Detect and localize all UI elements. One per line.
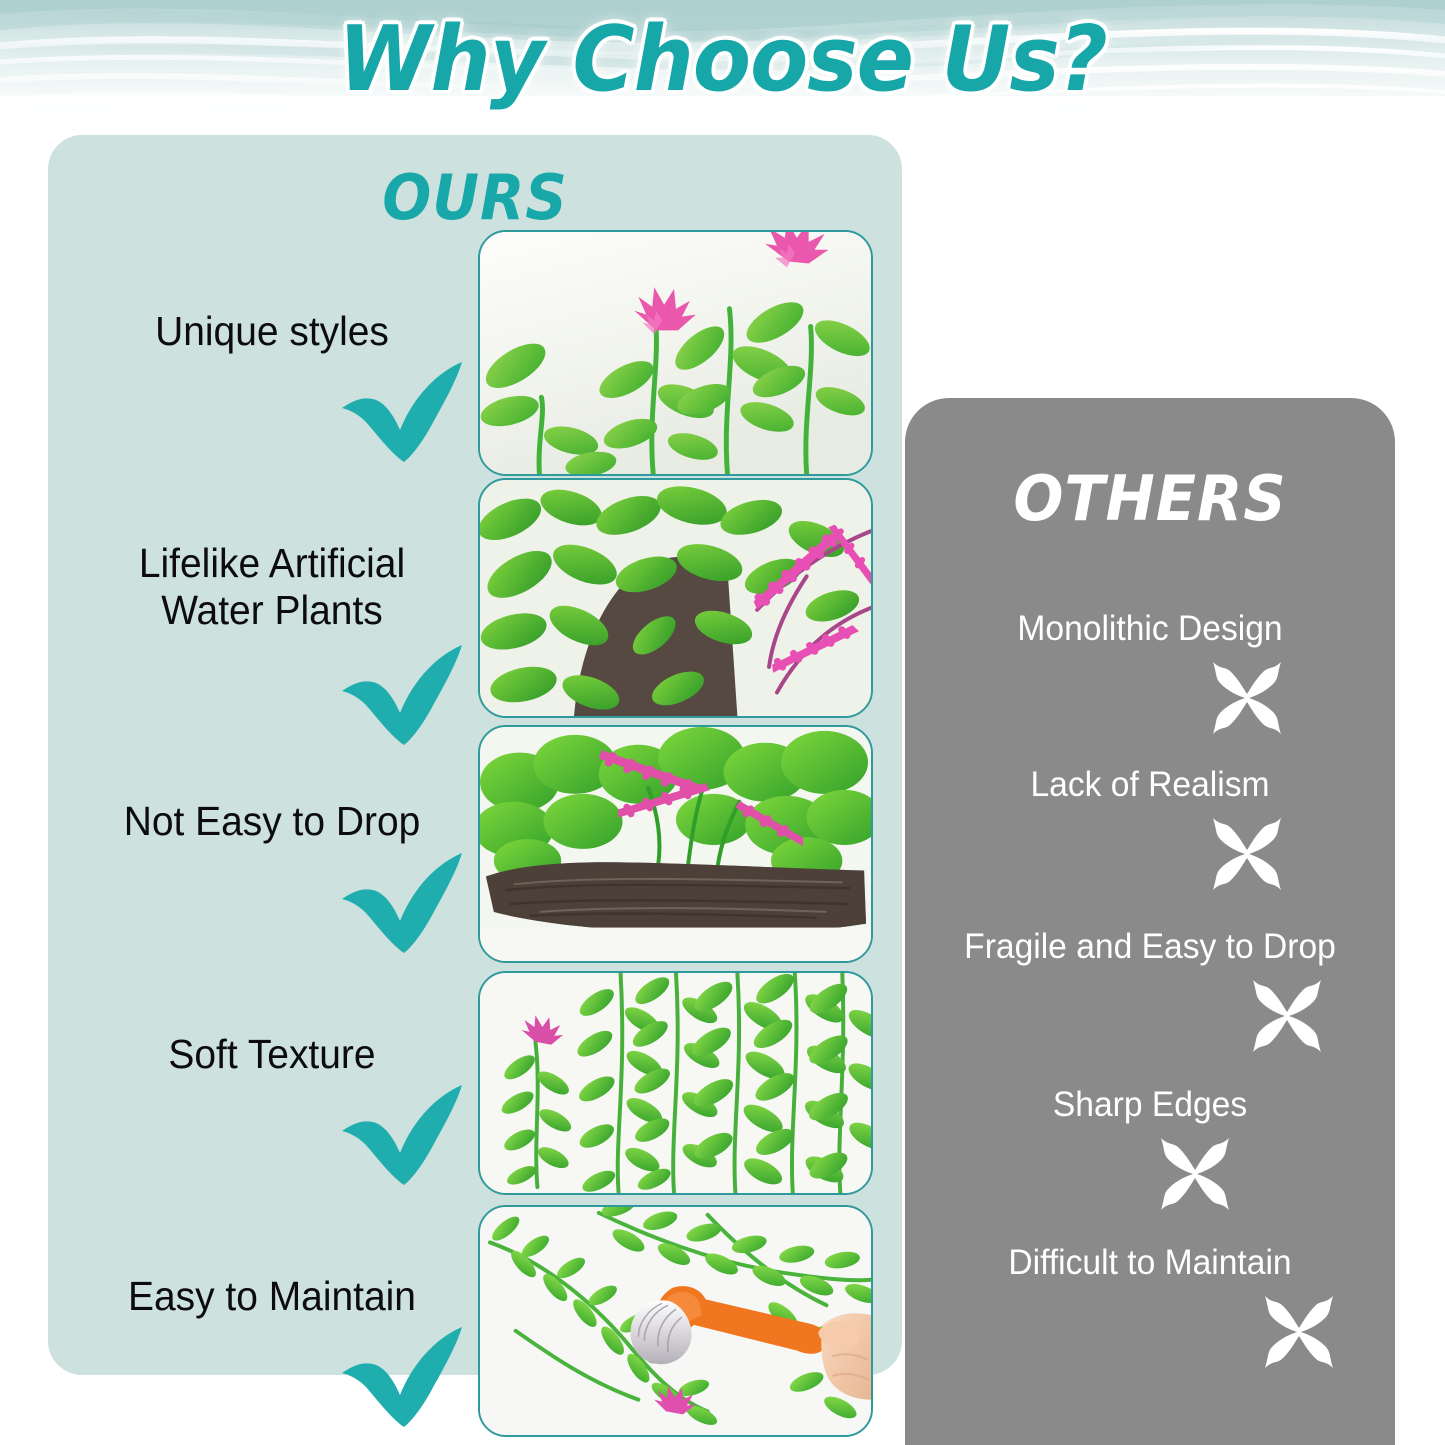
others-item-label: Lack of Realism	[915, 764, 1385, 806]
ours-photo-1	[478, 230, 873, 476]
tall-green-plant-stems-photo-icon	[480, 973, 871, 1193]
cross-icon	[1257, 1290, 1341, 1374]
ours-item-check	[338, 1083, 468, 1187]
ours-item-check	[338, 360, 468, 464]
check-icon	[338, 1325, 468, 1429]
check-icon	[338, 360, 468, 464]
check-icon	[338, 851, 468, 955]
others-item-label: Difficult to Maintain	[915, 1242, 1385, 1284]
ours-item-check	[338, 1325, 468, 1429]
ours-item-label: Easy to Maintain	[73, 1273, 472, 1320]
ours-item-label: Soft Texture	[73, 1031, 472, 1078]
others-item-label: Sharp Edges	[915, 1084, 1385, 1126]
ours-item-check	[338, 851, 468, 955]
driftwood-log-base-plants-photo-icon	[480, 727, 871, 961]
page-title: Why Choose Us?	[43, 8, 1401, 112]
others-item-cross	[1257, 1290, 1341, 1374]
others-item-cross	[1205, 812, 1289, 896]
others-item-cross	[1205, 656, 1289, 740]
ours-photo-5	[478, 1205, 873, 1437]
others-panel: OTHERS Monolithic Design Lack of Realism…	[905, 398, 1395, 1445]
others-item-label: Fragile and Easy to Drop	[915, 926, 1385, 968]
aquarium-plants-pink-flowers-photo-icon	[480, 232, 871, 474]
others-item-cross	[1153, 1132, 1237, 1216]
check-icon	[338, 643, 468, 747]
ours-item-label: Not Easy to Drop	[73, 798, 472, 845]
check-icon	[338, 1083, 468, 1187]
others-item-cross	[1245, 974, 1329, 1058]
ours-item-label: Lifelike Artificial Water Plants	[73, 540, 472, 634]
others-item-label: Monolithic Design	[915, 608, 1385, 650]
cross-icon	[1245, 974, 1329, 1058]
cross-icon	[1205, 656, 1289, 740]
ours-panel: OURS	[48, 135, 902, 1375]
ours-heading: OURS	[78, 163, 872, 233]
ours-photo-4	[478, 971, 873, 1195]
ours-photo-2	[478, 478, 873, 718]
others-heading: OTHERS	[917, 464, 1383, 534]
ours-photo-3	[478, 725, 873, 963]
cross-icon	[1205, 812, 1289, 896]
cross-icon	[1153, 1132, 1237, 1216]
ours-item-label: Unique styles	[73, 308, 472, 355]
ours-item-check	[338, 643, 468, 747]
hand-brush-cleaning-plant-photo-icon	[480, 1207, 871, 1435]
dense-green-leaves-pink-fern-photo-icon	[480, 480, 871, 716]
